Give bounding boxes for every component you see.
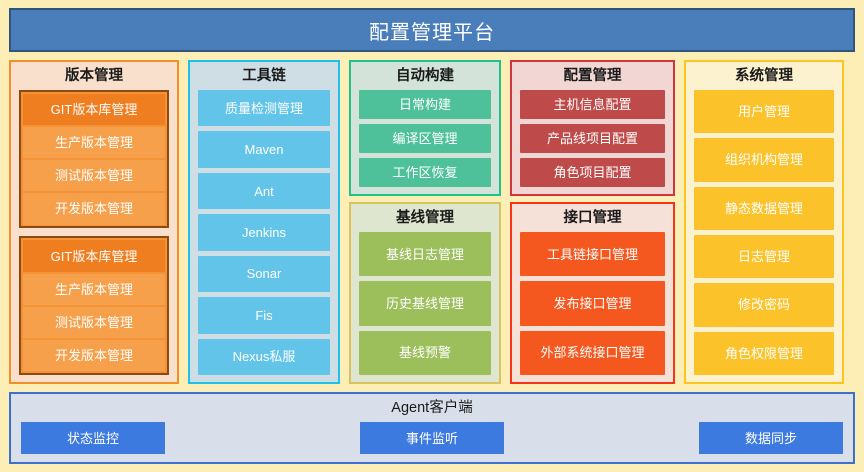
menu-item-test-version-management-1[interactable]: 测试版本管理	[23, 160, 165, 191]
agent-client-item-list: 状态监控 事件监听 数据同步	[21, 422, 843, 454]
panel-title-version-management: 版本管理	[19, 67, 169, 90]
panel-title-toolchain: 工具链	[198, 67, 330, 90]
menu-item-sonar[interactable]: Sonar	[198, 256, 330, 292]
platform-header: 配置管理平台	[9, 8, 855, 52]
panel-config-management: 配置管理 主机信息配置 产品线项目配置 角色项目配置	[510, 60, 675, 196]
column-toolchain: 工具链 质量检测管理 Maven Ant Jenkins Sonar Fis N…	[188, 60, 340, 384]
panel-interface-management: 接口管理 工具链接口管理 发布接口管理 外部系统接口管理	[510, 202, 675, 384]
menu-item-host-info-config[interactable]: 主机信息配置	[520, 90, 665, 119]
menu-item-dev-version-management-1[interactable]: 开发版本管理	[23, 193, 165, 224]
menu-item-role-permission-management[interactable]: 角色权限管理	[694, 332, 834, 375]
menu-item-baseline-log-management[interactable]: 基线日志管理	[359, 232, 491, 276]
menu-item-quality-inspection-management[interactable]: 质量检测管理	[198, 90, 330, 126]
menu-item-fis[interactable]: Fis	[198, 297, 330, 333]
panel-title-baseline-management: 基线管理	[359, 209, 491, 232]
version-group-1: GIT版本库管理 生产版本管理 测试版本管理 开发版本管理	[19, 90, 169, 229]
panel-baseline-management: 基线管理 基线日志管理 历史基线管理 基线预警	[349, 202, 501, 384]
menu-item-org-structure-management[interactable]: 组织机构管理	[694, 138, 834, 181]
column-build-baseline: 自动构建 日常构建 编译区管理 工作区恢复 基线管理 基线日志管理 历史基线管理…	[349, 60, 501, 384]
menu-item-workspace-recovery[interactable]: 工作区恢复	[359, 158, 491, 187]
menu-item-status-monitoring[interactable]: 状态监控	[21, 422, 165, 454]
menu-item-git-repo-management-1[interactable]: GIT版本库管理	[23, 94, 165, 125]
panel-title-system-management: 系统管理	[694, 67, 834, 90]
menu-item-product-line-project-config[interactable]: 产品线项目配置	[520, 124, 665, 153]
column-system-management: 系统管理 用户管理 组织机构管理 静态数据管理 日志管理 修改密码 角色权限管理	[684, 60, 844, 384]
panel-title-agent-client: Agent客户端	[21, 398, 843, 422]
diagram-canvas: 配置管理平台 版本管理 GIT版本库管理 生产版本管理 测试版本管理 开发版本管…	[0, 0, 864, 472]
menu-item-log-management[interactable]: 日志管理	[694, 235, 834, 278]
menu-item-test-version-management-2[interactable]: 测试版本管理	[23, 307, 165, 338]
menu-item-historical-baseline-management[interactable]: 历史基线管理	[359, 281, 491, 325]
module-columns: 版本管理 GIT版本库管理 生产版本管理 测试版本管理 开发版本管理 GIT版本…	[9, 60, 855, 384]
panel-agent-client: Agent客户端 状态监控 事件监听 数据同步	[9, 392, 855, 464]
menu-item-compile-area-management[interactable]: 编译区管理	[359, 124, 491, 153]
menu-item-daily-build[interactable]: 日常构建	[359, 90, 491, 119]
menu-item-release-interface-management[interactable]: 发布接口管理	[520, 281, 665, 325]
version-group-2: GIT版本库管理 生产版本管理 测试版本管理 开发版本管理	[19, 236, 169, 375]
menu-item-static-data-management[interactable]: 静态数据管理	[694, 187, 834, 230]
menu-item-nexus-private-server[interactable]: Nexus私服	[198, 339, 330, 375]
menu-item-user-management[interactable]: 用户管理	[694, 90, 834, 133]
toolchain-item-list: 质量检测管理 Maven Ant Jenkins Sonar Fis Nexus…	[198, 90, 330, 375]
column-version-management: 版本管理 GIT版本库管理 生产版本管理 测试版本管理 开发版本管理 GIT版本…	[9, 60, 179, 384]
menu-item-toolchain-interface-management[interactable]: 工具链接口管理	[520, 232, 665, 276]
menu-item-production-version-management-2[interactable]: 生产版本管理	[23, 274, 165, 305]
menu-item-external-system-interface-management[interactable]: 外部系统接口管理	[520, 331, 665, 375]
panel-title-interface-management: 接口管理	[520, 209, 665, 232]
menu-item-git-repo-management-2[interactable]: GIT版本库管理	[23, 240, 165, 271]
baseline-item-list: 基线日志管理 历史基线管理 基线预警	[359, 232, 491, 375]
menu-item-ant[interactable]: Ant	[198, 173, 330, 209]
menu-item-data-sync[interactable]: 数据同步	[699, 422, 843, 454]
menu-item-production-version-management-1[interactable]: 生产版本管理	[23, 127, 165, 158]
menu-item-baseline-alert[interactable]: 基线预警	[359, 331, 491, 375]
menu-item-change-password[interactable]: 修改密码	[694, 283, 834, 326]
panel-title-auto-build: 自动构建	[359, 67, 491, 90]
auto-build-item-list: 日常构建 编译区管理 工作区恢复	[359, 90, 491, 187]
panel-toolchain: 工具链 质量检测管理 Maven Ant Jenkins Sonar Fis N…	[188, 60, 340, 384]
menu-item-maven[interactable]: Maven	[198, 131, 330, 167]
menu-item-role-project-config[interactable]: 角色项目配置	[520, 158, 665, 187]
panel-title-config-management: 配置管理	[520, 67, 665, 90]
interface-item-list: 工具链接口管理 发布接口管理 外部系统接口管理	[520, 232, 665, 375]
config-item-list: 主机信息配置 产品线项目配置 角色项目配置	[520, 90, 665, 187]
menu-item-jenkins[interactable]: Jenkins	[198, 214, 330, 250]
menu-item-event-listening[interactable]: 事件监听	[360, 422, 504, 454]
panel-system-management: 系统管理 用户管理 组织机构管理 静态数据管理 日志管理 修改密码 角色权限管理	[684, 60, 844, 384]
menu-item-dev-version-management-2[interactable]: 开发版本管理	[23, 340, 165, 371]
panel-version-management: 版本管理 GIT版本库管理 生产版本管理 测试版本管理 开发版本管理 GIT版本…	[9, 60, 179, 384]
system-item-list: 用户管理 组织机构管理 静态数据管理 日志管理 修改密码 角色权限管理	[694, 90, 834, 375]
panel-auto-build: 自动构建 日常构建 编译区管理 工作区恢复	[349, 60, 501, 196]
page-title: 配置管理平台	[369, 16, 495, 45]
column-config-interface: 配置管理 主机信息配置 产品线项目配置 角色项目配置 接口管理 工具链接口管理 …	[510, 60, 675, 384]
